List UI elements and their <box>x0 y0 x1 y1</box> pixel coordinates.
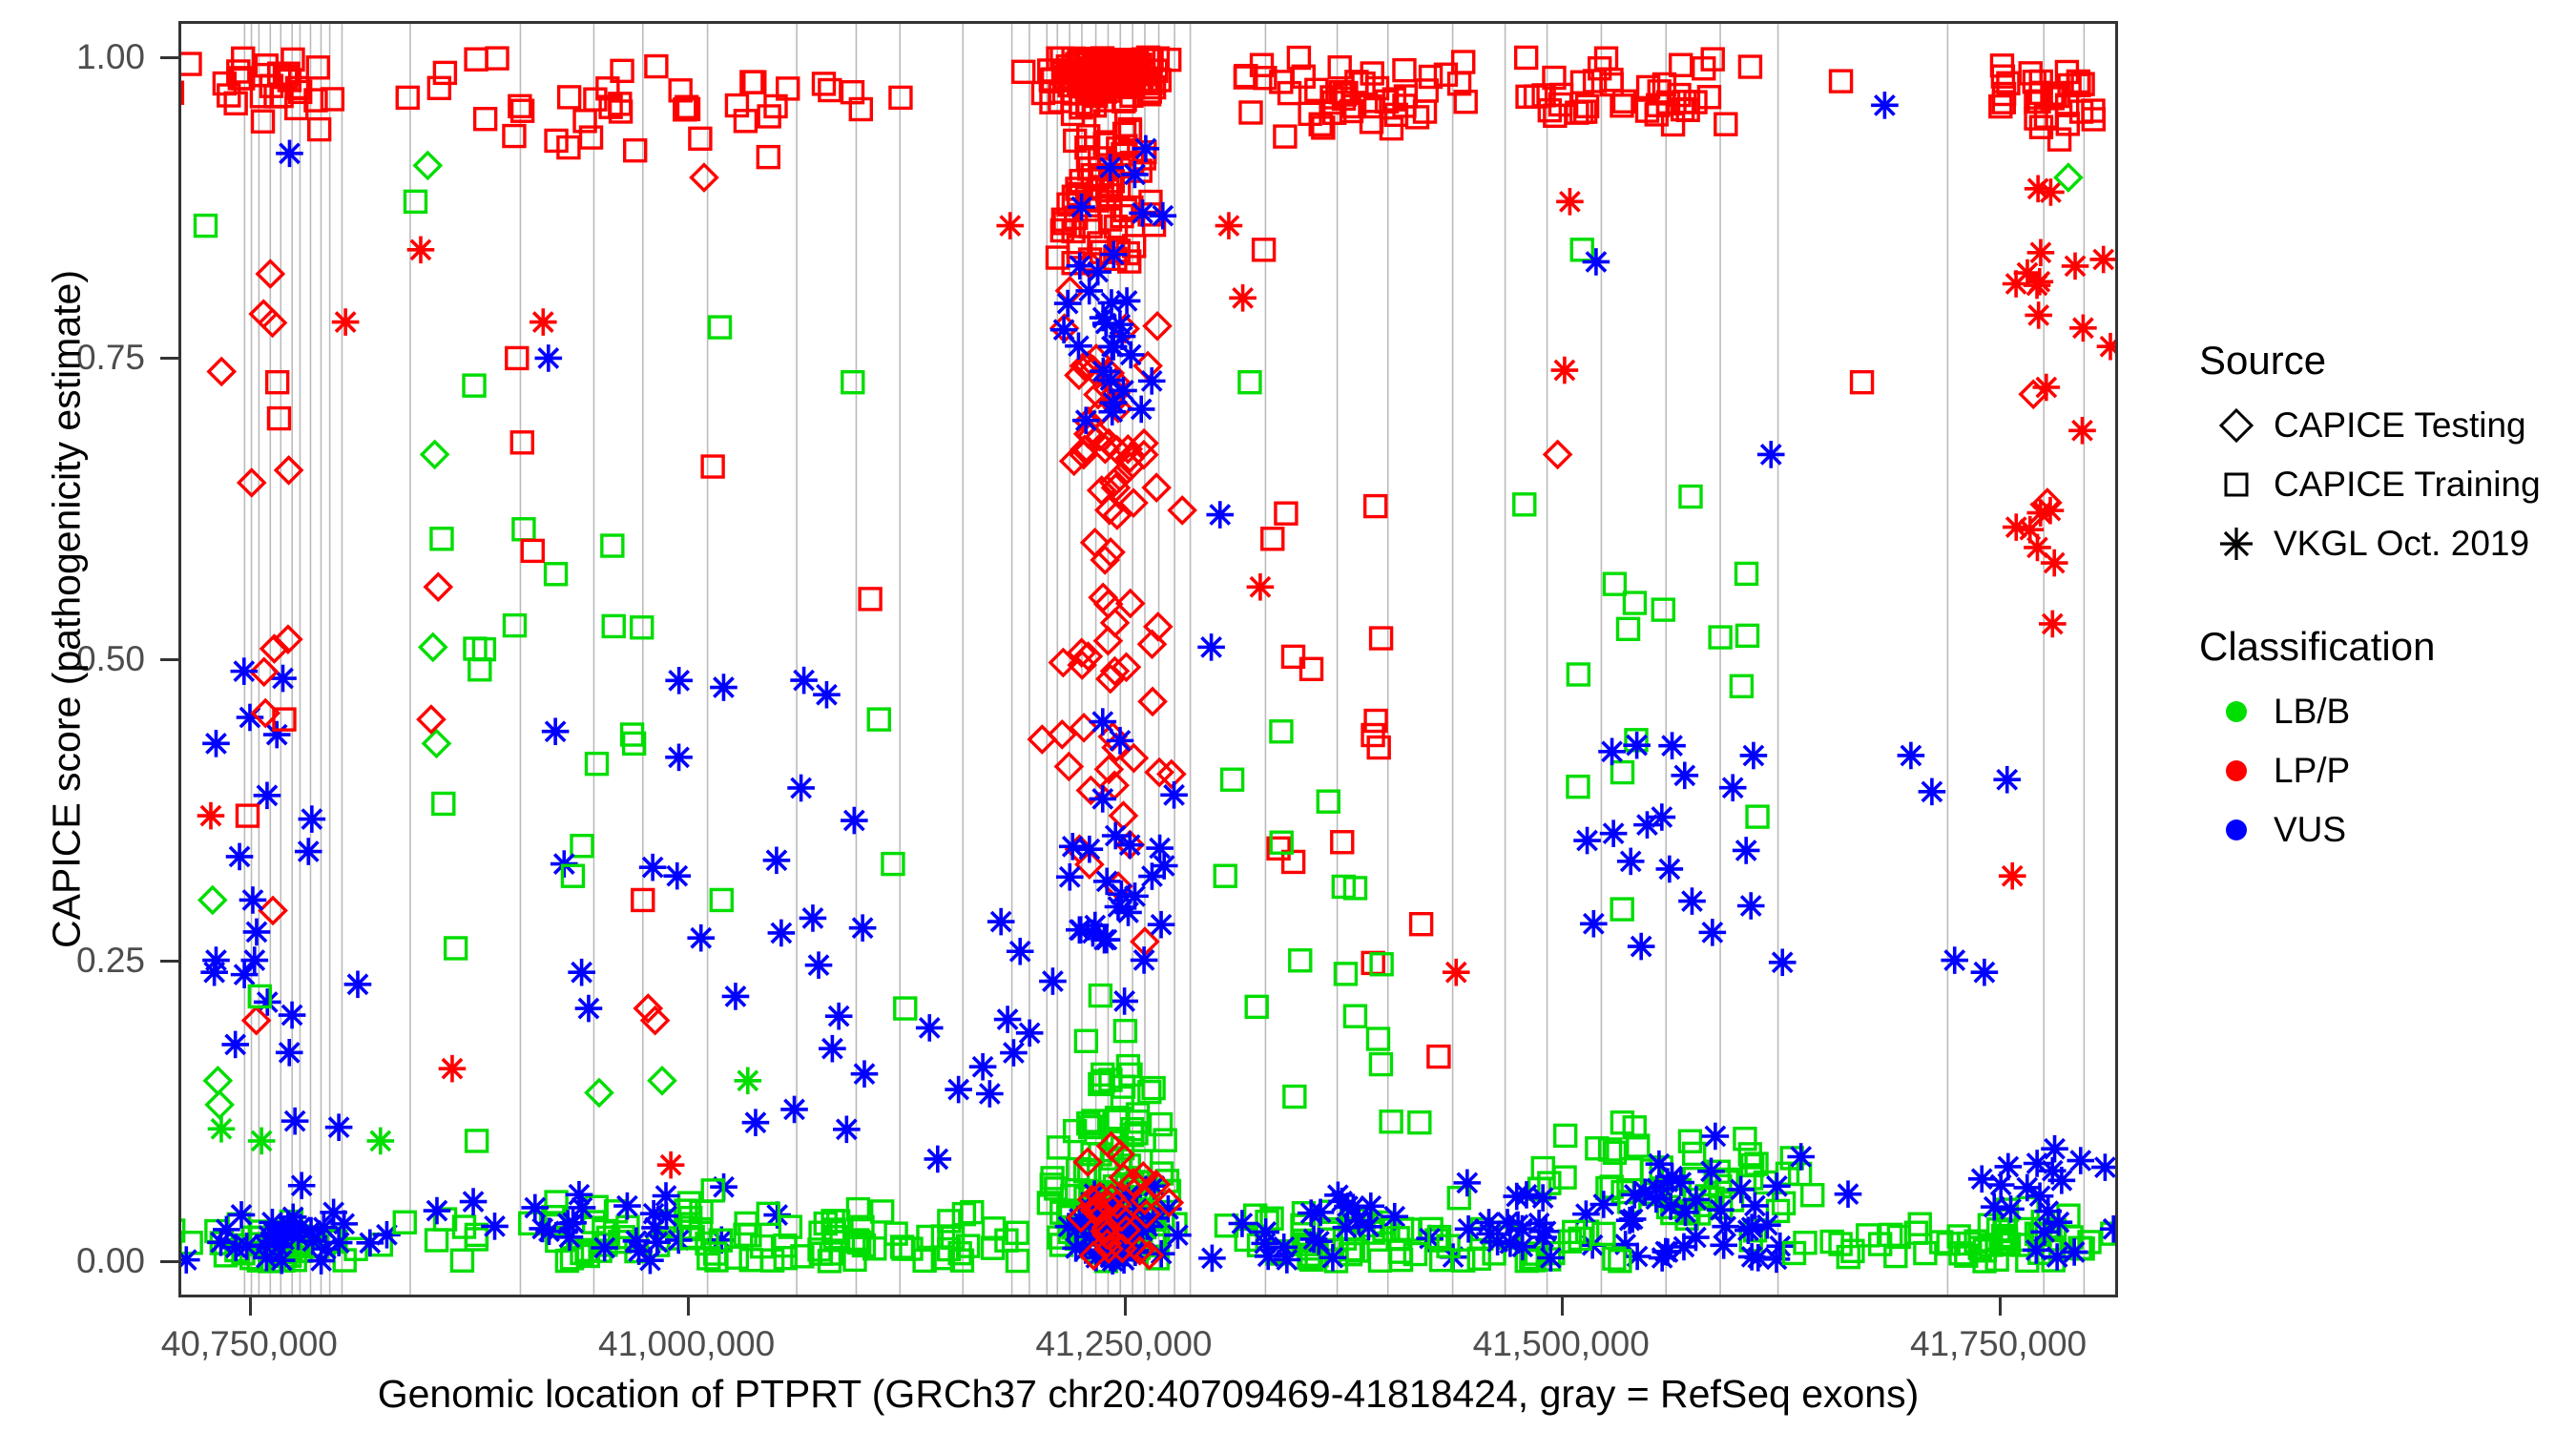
legend-key <box>2199 404 2274 447</box>
point-asterisk <box>1529 1184 1557 1212</box>
point-diamond <box>199 887 225 913</box>
point-diamond <box>1082 529 1108 555</box>
point-asterisk <box>825 1003 853 1030</box>
point-asterisk <box>1719 774 1747 801</box>
point-asterisk <box>1007 938 1034 965</box>
point-asterisk <box>800 904 827 932</box>
point-asterisk <box>231 657 259 685</box>
point-square <box>431 529 452 550</box>
point-asterisk <box>575 995 603 1023</box>
point-asterisk <box>1229 284 1257 312</box>
point-asterisk <box>1968 1165 1996 1192</box>
point-asterisk <box>1056 863 1084 891</box>
point-asterisk <box>1146 835 1174 862</box>
point-asterisk <box>665 667 693 695</box>
circle-legend-icon <box>2214 690 2258 734</box>
point-square <box>1318 791 1339 812</box>
point-asterisk <box>1454 1170 1482 1197</box>
point-asterisk <box>1702 1123 1730 1151</box>
point-asterisk <box>1229 1210 1257 1237</box>
point-square <box>1624 592 1645 613</box>
x-tick-mark <box>687 1297 690 1316</box>
point-asterisk <box>2003 513 2030 541</box>
point-square <box>1391 1250 1412 1271</box>
point-asterisk <box>2097 333 2118 361</box>
point-asterisk <box>1255 1243 1282 1271</box>
point-asterisk <box>325 1229 353 1256</box>
x-axis-title: Genomic location of PTPRT (GRCh37 chr20:… <box>178 1372 2118 1417</box>
point-asterisk <box>722 983 750 1010</box>
point-asterisk <box>639 854 667 881</box>
point-asterisk <box>625 1237 653 1265</box>
point-diamond <box>1113 654 1139 680</box>
y-tick-label: 0.00 <box>76 1241 145 1281</box>
point-square <box>507 347 528 368</box>
point-asterisk <box>1769 948 1797 976</box>
point-asterisk <box>1787 1143 1815 1171</box>
x-tick-mark <box>1124 1297 1127 1316</box>
point-asterisk <box>1993 766 2021 794</box>
point-asterisk <box>1138 862 1166 890</box>
point-asterisk <box>687 924 715 952</box>
point-asterisk <box>248 1128 276 1155</box>
point-asterisk <box>1132 135 1160 163</box>
point-asterisk <box>1090 304 1117 332</box>
point-square <box>475 109 496 130</box>
point-asterisk <box>1981 1193 2008 1221</box>
point-square <box>1365 496 1386 517</box>
point-square <box>586 754 607 775</box>
point-diamond <box>276 458 301 484</box>
point-asterisk <box>241 946 269 974</box>
point-asterisk <box>613 1192 641 1220</box>
point-diamond <box>422 442 447 467</box>
y-tick-mark <box>160 960 178 963</box>
point-asterisk <box>916 1014 944 1042</box>
point-square <box>1514 494 1535 515</box>
point-square <box>1736 625 1757 646</box>
point-asterisk <box>2003 270 2030 298</box>
point-asterisk <box>1919 778 1946 806</box>
point-square <box>1240 102 1261 123</box>
point-asterisk <box>279 1002 306 1029</box>
point-square <box>1568 777 1589 798</box>
point-square <box>1652 599 1673 620</box>
point-asterisk <box>1252 1218 1279 1246</box>
point-asterisk <box>1068 194 1095 221</box>
point-square <box>1611 762 1632 783</box>
point-asterisk <box>222 1234 250 1261</box>
point-asterisk <box>522 1194 550 1222</box>
point-square <box>603 615 624 636</box>
point-square <box>1739 56 1760 77</box>
point-asterisk <box>1556 188 1584 216</box>
point-asterisk <box>1093 926 1121 954</box>
point-asterisk <box>1551 357 1579 384</box>
point-square <box>1554 1167 1575 1188</box>
point-asterisk <box>202 730 230 757</box>
point-asterisk <box>1247 573 1275 601</box>
point-asterisk <box>226 843 254 871</box>
point-asterisk <box>1738 1243 1766 1271</box>
point-asterisk <box>1131 946 1158 974</box>
point-square <box>504 126 525 147</box>
point-square <box>1362 952 1383 973</box>
x-tick-label: 40,750,000 <box>161 1324 338 1364</box>
point-asterisk <box>542 717 570 745</box>
point-diamond <box>419 707 445 733</box>
point-square <box>446 938 467 959</box>
point-square <box>602 535 623 556</box>
legend-label: VKGL Oct. 2019 <box>2274 524 2529 564</box>
point-asterisk <box>1508 1215 1536 1243</box>
point-asterisk <box>407 237 435 264</box>
point-square <box>1802 1185 1823 1206</box>
point-diamond <box>251 301 277 327</box>
point-asterisk <box>2061 1238 2088 1266</box>
legend-item-vus[interactable]: VUS <box>2199 800 2576 860</box>
point-asterisk <box>332 308 360 336</box>
x-tick-label: 41,750,000 <box>1910 1324 2087 1364</box>
point-asterisk <box>1121 161 1149 189</box>
point-asterisk <box>787 775 815 802</box>
point-asterisk <box>1621 1181 1649 1209</box>
point-asterisk <box>665 744 693 772</box>
point-asterisk <box>1110 377 1137 404</box>
point-square <box>1367 1028 1388 1049</box>
point-asterisk <box>734 1067 761 1094</box>
point-asterisk <box>295 838 322 865</box>
point-asterisk <box>1016 1020 1044 1047</box>
point-asterisk <box>924 1146 952 1173</box>
x-tick-label: 41,000,000 <box>598 1324 775 1364</box>
point-asterisk <box>1683 1186 1711 1213</box>
point-asterisk <box>1628 933 1655 961</box>
point-square <box>1611 1112 1632 1133</box>
point-square <box>711 889 732 910</box>
point-diamond <box>1170 497 1195 523</box>
point-square <box>309 119 330 140</box>
point-square <box>225 93 246 114</box>
point-square <box>1516 47 1537 68</box>
point-asterisk <box>996 212 1024 239</box>
point-square <box>842 372 863 393</box>
point-square <box>522 540 543 561</box>
point-asterisk <box>1671 1234 1698 1261</box>
point-asterisk <box>742 1109 770 1136</box>
point-asterisk <box>1657 1192 1685 1220</box>
point-asterisk <box>1150 202 1177 230</box>
point-asterisk <box>2026 1182 2054 1210</box>
point-asterisk <box>2041 1135 2068 1163</box>
legend-item-capice-training[interactable]: CAPICE Training <box>2199 455 2576 514</box>
point-square <box>428 77 449 98</box>
point-asterisk <box>994 1006 1022 1033</box>
point-asterisk <box>439 1055 467 1083</box>
point-diamond <box>587 1080 613 1106</box>
point-asterisk <box>1898 742 1925 770</box>
point-square <box>467 1130 488 1151</box>
point-asterisk <box>1738 1213 1766 1241</box>
point-square <box>1394 60 1415 81</box>
point-asterisk <box>2023 1236 2050 1264</box>
point-square <box>237 805 258 826</box>
point-asterisk <box>1995 1153 2023 1181</box>
point-square <box>1731 675 1752 696</box>
point-asterisk <box>325 1113 353 1141</box>
point-square <box>1532 1158 1553 1179</box>
classification-legend-title: Classification <box>2199 625 2576 669</box>
point-square <box>1371 954 1392 975</box>
source-legend-title: Source <box>2199 339 2576 383</box>
circle-legend-icon <box>2214 749 2258 793</box>
point-diamond <box>1140 689 1166 715</box>
point-asterisk <box>1600 819 1628 847</box>
point-square <box>1736 563 1757 584</box>
point-asterisk <box>2033 374 2061 402</box>
point-asterisk <box>1678 887 1706 915</box>
point-square <box>1254 239 1275 260</box>
point-asterisk <box>2069 315 2097 342</box>
point-square <box>1409 1112 1430 1133</box>
point-asterisk <box>2089 246 2117 274</box>
point-asterisk <box>1737 892 1765 920</box>
point-asterisk <box>197 802 225 830</box>
diamond-legend-icon <box>2214 404 2258 447</box>
point-asterisk <box>768 920 796 947</box>
point-asterisk <box>1733 837 1760 864</box>
point-diamond <box>426 574 451 600</box>
point-asterisk <box>987 908 1015 936</box>
point-asterisk <box>221 1031 249 1059</box>
point-square <box>571 836 592 857</box>
point-asterisk <box>1656 856 1684 883</box>
point-asterisk <box>1093 868 1121 896</box>
point-square <box>1858 1225 1879 1246</box>
point-square <box>1284 1087 1305 1108</box>
point-square <box>1276 503 1297 524</box>
legend-item-lp-p[interactable]: LP/P <box>2199 741 2576 800</box>
point-asterisk <box>200 959 228 986</box>
point-asterisk <box>481 1213 509 1240</box>
point-asterisk <box>1532 1217 1560 1245</box>
point-asterisk <box>460 1188 488 1215</box>
point-asterisk <box>710 674 737 701</box>
point-diamond <box>415 153 441 178</box>
point-square <box>2083 109 2104 130</box>
data-points <box>178 47 2118 1275</box>
source-legend: SourceCAPICE TestingCAPICE TrainingVKGL … <box>2199 339 2576 573</box>
point-square <box>758 147 779 168</box>
point-asterisk <box>1757 441 1785 468</box>
point-asterisk <box>284 1223 312 1251</box>
chart-page: 0.000.250.500.751.00 CAPICE score (patho… <box>0 0 2576 1431</box>
y-axis-title: CAPICE score (pathogenicity estimate) <box>45 133 90 1087</box>
point-square <box>1428 1047 1449 1068</box>
y-tick-mark <box>160 1260 178 1263</box>
point-square <box>513 519 534 540</box>
point-asterisk <box>2068 417 2096 445</box>
point-square <box>1075 1030 1096 1051</box>
point-asterisk <box>1148 911 1175 939</box>
point-square <box>268 408 289 429</box>
point-asterisk <box>1712 1213 1739 1240</box>
legend-key <box>2199 808 2274 852</box>
point-square <box>735 111 756 132</box>
point-asterisk <box>1096 154 1124 181</box>
point-asterisk <box>1573 827 1601 855</box>
point-square <box>1275 126 1296 147</box>
point-asterisk <box>763 846 791 874</box>
point-asterisk <box>1164 1221 1192 1249</box>
point-square <box>1747 806 1768 827</box>
point-square <box>646 56 667 77</box>
point-asterisk <box>2027 238 2055 266</box>
point-square <box>1271 721 1292 742</box>
point-square <box>178 82 182 103</box>
point-asterisk <box>1111 987 1138 1015</box>
point-square <box>397 87 418 108</box>
point-asterisk <box>2048 1167 2076 1194</box>
point-asterisk <box>813 681 841 709</box>
point-diamond <box>1144 475 1170 501</box>
legend-label: LB/B <box>2274 692 2350 732</box>
point-asterisk <box>2041 550 2068 577</box>
point-square <box>451 1250 472 1271</box>
point-asterisk <box>1658 732 1686 759</box>
point-square <box>1215 865 1236 886</box>
point-asterisk <box>424 1197 451 1225</box>
point-diamond <box>209 359 235 384</box>
point-asterisk <box>851 1060 879 1088</box>
point-asterisk <box>1598 738 1626 766</box>
x-tick-mark <box>1561 1297 1564 1316</box>
legend-item-capice-testing[interactable]: CAPICE Testing <box>2199 396 2576 455</box>
point-asterisk <box>208 1115 236 1143</box>
point-asterisk <box>1617 848 1645 876</box>
point-asterisk <box>1741 1192 1769 1220</box>
point-asterisk <box>1102 822 1130 850</box>
point-square <box>1735 1129 1755 1150</box>
point-asterisk <box>1871 92 1899 119</box>
legend-key <box>2199 749 2274 793</box>
point-asterisk <box>1039 967 1067 995</box>
point-square <box>1246 996 1267 1017</box>
point-diamond <box>243 1007 269 1033</box>
point-asterisk <box>819 1035 846 1063</box>
point-asterisk <box>1274 1246 1301 1274</box>
point-diamond <box>420 634 446 660</box>
point-asterisk <box>1633 811 1661 839</box>
point-asterisk <box>780 1096 808 1124</box>
point-asterisk <box>1443 959 1470 986</box>
point-square <box>487 48 508 69</box>
point-diamond <box>1545 442 1570 467</box>
point-asterisk <box>1537 1244 1565 1272</box>
point-square <box>702 456 723 477</box>
point-square <box>466 49 487 70</box>
point-asterisk <box>1623 732 1651 759</box>
x-tick-label: 41,250,000 <box>1035 1324 1212 1364</box>
point-square <box>1411 914 1432 935</box>
point-asterisk <box>276 140 303 168</box>
legend-item-lb-b[interactable]: LB/B <box>2199 682 2576 741</box>
scatter-plot-canvas <box>178 21 2118 1297</box>
x-tick-label: 41,500,000 <box>1473 1324 1650 1364</box>
point-square <box>546 564 567 585</box>
point-asterisk <box>344 971 372 999</box>
y-tick-label: 1.00 <box>76 37 145 77</box>
point-asterisk <box>1160 781 1188 809</box>
point-square <box>559 87 580 108</box>
point-asterisk <box>976 1080 1004 1108</box>
y-tick-mark <box>160 357 178 360</box>
point-asterisk <box>841 807 868 835</box>
square-legend-icon <box>2214 463 2258 507</box>
point-asterisk <box>1197 633 1225 661</box>
legend-key <box>2199 522 2274 566</box>
point-asterisk <box>2067 1147 2094 1174</box>
point-asterisk <box>945 1076 972 1104</box>
point-square <box>558 137 579 158</box>
point-square <box>469 659 490 680</box>
point-asterisk <box>529 1215 556 1243</box>
point-asterisk <box>1497 1230 1525 1257</box>
point-square <box>1007 1251 1028 1272</box>
legend-label: VUS <box>2274 810 2346 850</box>
point-asterisk <box>1697 1158 1725 1186</box>
point-asterisk <box>969 1053 997 1081</box>
point-asterisk <box>1699 919 1727 946</box>
point-square <box>464 375 485 396</box>
point-square <box>405 191 426 212</box>
point-asterisk <box>1206 501 1234 529</box>
point-square <box>1611 899 1632 920</box>
legend-key <box>2199 690 2274 734</box>
point-asterisk <box>530 308 557 336</box>
legend-container: SourceCAPICE TestingCAPICE TrainingVKGL … <box>2199 339 2576 860</box>
classification-legend: ClassificationLB/BLP/PVUS <box>2199 625 2576 860</box>
point-asterisk <box>254 988 281 1016</box>
point-asterisk <box>1671 762 1698 790</box>
point-square <box>1344 1006 1365 1027</box>
point-diamond <box>205 1068 231 1093</box>
point-square <box>1715 114 1736 135</box>
point-square <box>1239 372 1260 393</box>
point-asterisk <box>1999 862 2026 890</box>
point-asterisk <box>299 805 326 833</box>
point-asterisk <box>1455 1215 1483 1243</box>
point-asterisk <box>663 862 691 890</box>
point-asterisk <box>849 914 877 942</box>
point-square <box>195 216 216 237</box>
legend-item-vkgl-oct-2019[interactable]: VKGL Oct. 2019 <box>2199 514 2576 573</box>
point-asterisk <box>1624 1243 1652 1271</box>
point-diamond <box>692 165 717 191</box>
y-tick-mark <box>160 56 178 59</box>
point-square <box>632 617 653 638</box>
point-diamond <box>1121 745 1147 771</box>
point-asterisk <box>2025 301 2052 329</box>
point-asterisk <box>657 1151 685 1179</box>
point-square <box>726 95 747 116</box>
point-diamond <box>2055 165 2081 191</box>
point-asterisk <box>1076 836 1104 863</box>
point-asterisk <box>1319 1244 1347 1272</box>
point-asterisk <box>1649 803 1676 831</box>
point-asterisk <box>1971 959 1999 986</box>
point-asterisk <box>1107 727 1134 755</box>
